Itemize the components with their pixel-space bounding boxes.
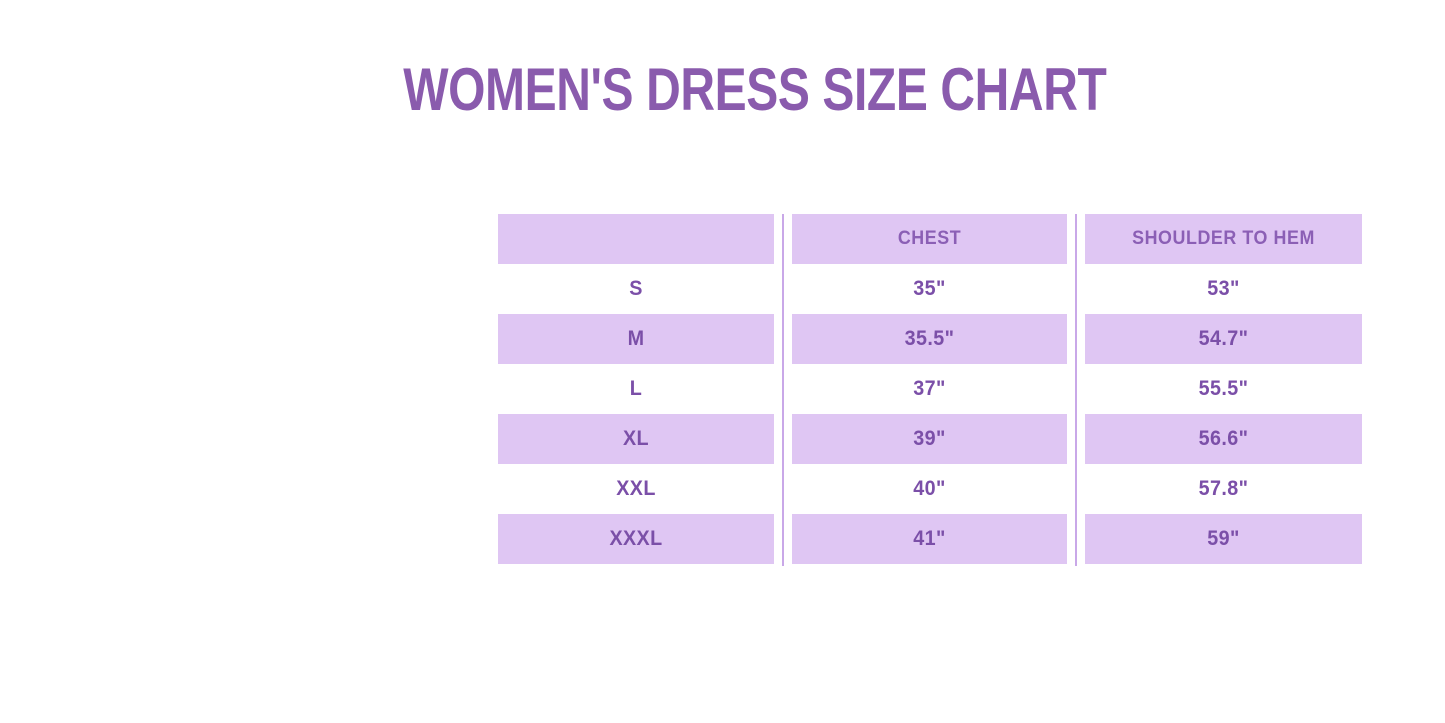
cell-size: M [498, 314, 774, 364]
table-row: XL 39" 56.6" [489, 414, 1371, 464]
table-row: XXL 40" 57.8" [489, 464, 1371, 514]
size-chart-table-container: CHEST SHOULDER TO HEM S 35" 53" M 35.5" … [489, 214, 1371, 566]
cell-shoulder-to-hem: 57.8" [1085, 464, 1362, 514]
cell-shoulder-to-hem: 59" [1085, 514, 1362, 564]
cell-size: XXXL [498, 514, 774, 564]
size-chart-table: CHEST SHOULDER TO HEM S 35" 53" M 35.5" … [489, 214, 1371, 564]
column-header-size [498, 214, 774, 264]
table-row: M 35.5" 54.7" [489, 314, 1371, 364]
table-row: S 35" 53" [489, 264, 1371, 314]
cell-shoulder-to-hem: 56.6" [1085, 414, 1362, 464]
cell-size: XXL [498, 464, 774, 514]
page-title: WOMEN'S DRESS SIZE CHART [177, 54, 1333, 126]
cell-size: XL [498, 414, 774, 464]
table-header: CHEST SHOULDER TO HEM [489, 214, 1371, 264]
table-row: L 37" 55.5" [489, 364, 1371, 414]
table-body: S 35" 53" M 35.5" 54.7" L 37" 55.5" XL 3… [489, 264, 1371, 564]
cell-shoulder-to-hem: 54.7" [1085, 314, 1362, 364]
cell-size: S [498, 264, 774, 314]
cell-chest: 40" [792, 464, 1067, 514]
cell-chest: 39" [792, 414, 1067, 464]
cell-shoulder-to-hem: 53" [1085, 264, 1362, 314]
column-header-chest: CHEST [792, 214, 1067, 264]
column-header-shoulder-to-hem: SHOULDER TO HEM [1085, 214, 1362, 264]
cell-chest: 35" [792, 264, 1067, 314]
cell-chest: 41" [792, 514, 1067, 564]
size-chart-page: WOMEN'S DRESS SIZE CHART CHEST SHOULDER … [0, 0, 1445, 723]
cell-chest: 37" [792, 364, 1067, 414]
cell-chest: 35.5" [792, 314, 1067, 364]
table-row: XXXL 41" 59" [489, 514, 1371, 564]
table-header-row: CHEST SHOULDER TO HEM [489, 214, 1371, 264]
cell-size: L [498, 364, 774, 414]
cell-shoulder-to-hem: 55.5" [1085, 364, 1362, 414]
